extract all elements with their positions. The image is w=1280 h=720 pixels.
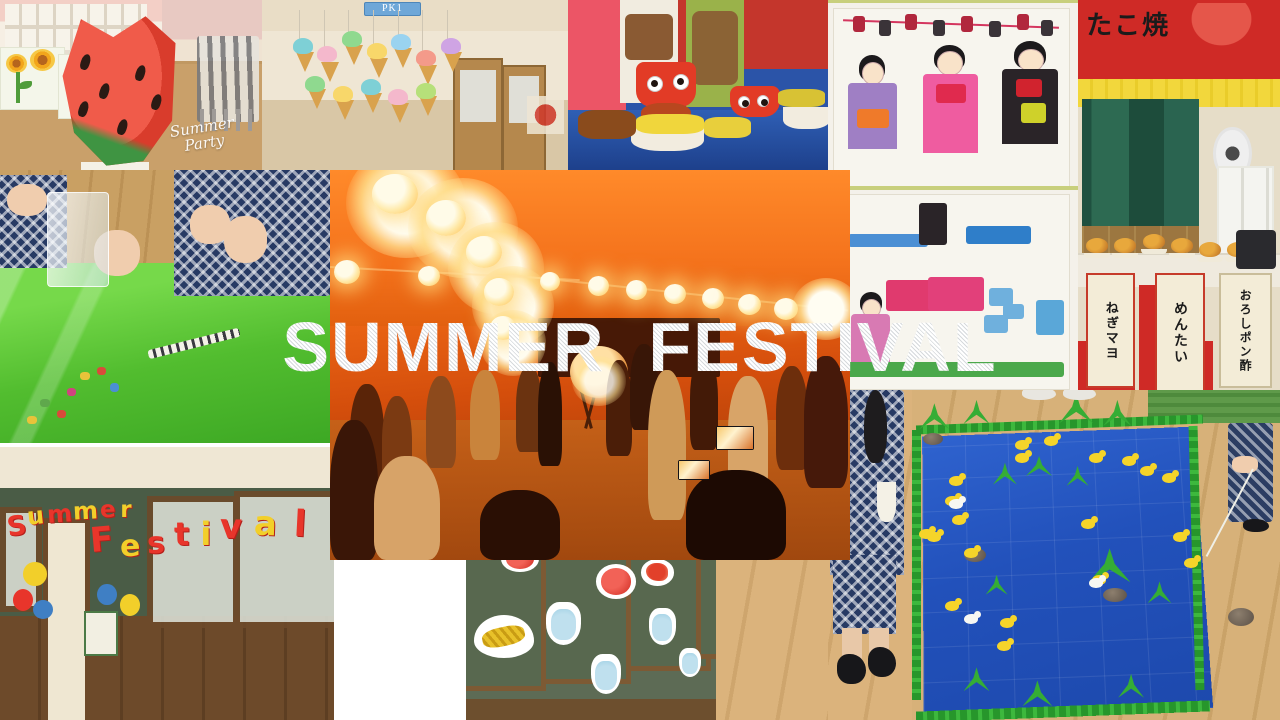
paper-scoop bbox=[305, 76, 325, 92]
takoyaki-tray bbox=[1141, 249, 1167, 254]
cutout-letter: s bbox=[146, 529, 165, 560]
paper-lantern bbox=[484, 278, 514, 306]
door-glass bbox=[460, 70, 495, 122]
child-shoe bbox=[1022, 390, 1055, 400]
sunflower-panel bbox=[0, 47, 65, 110]
red-panel bbox=[1139, 285, 1155, 396]
paper-scoop bbox=[416, 83, 436, 99]
paper-scoop bbox=[391, 34, 411, 50]
dancer bbox=[480, 490, 560, 560]
paper-decoration bbox=[97, 584, 117, 606]
octopus-eye bbox=[647, 76, 663, 92]
paper-duck bbox=[1140, 466, 1154, 476]
paper-duck bbox=[1089, 453, 1103, 463]
paper-scoop bbox=[416, 50, 436, 66]
paper-duck bbox=[1000, 618, 1014, 628]
paper-scoop bbox=[361, 79, 381, 95]
dancer bbox=[686, 470, 786, 560]
paper-lantern bbox=[372, 174, 418, 214]
dancer bbox=[648, 370, 686, 520]
goldfish-bag-cutout bbox=[649, 608, 677, 644]
paper-cone-craft bbox=[394, 48, 412, 68]
dancer bbox=[538, 362, 562, 466]
cutout-letter: S bbox=[5, 511, 28, 540]
paper-duck bbox=[1122, 456, 1136, 466]
paper-lantern bbox=[588, 276, 609, 296]
paper-cup bbox=[877, 482, 897, 522]
paper-takoyaki bbox=[1199, 242, 1221, 257]
wood-base bbox=[466, 699, 716, 720]
goldfish-cutout bbox=[641, 559, 674, 585]
black-pot bbox=[1236, 230, 1276, 270]
paper-duck bbox=[949, 476, 963, 486]
paper-corn-cutout bbox=[474, 615, 534, 658]
photo-duck-pond-game bbox=[912, 390, 1280, 720]
child-head bbox=[864, 390, 887, 463]
dancer bbox=[330, 420, 378, 560]
paper-lantern bbox=[426, 200, 466, 236]
sunflower-icon bbox=[6, 54, 27, 74]
paper-scoop bbox=[367, 43, 387, 59]
craft-sticker bbox=[80, 372, 90, 380]
menu-sign-negimayo: ねぎマヨ bbox=[1086, 273, 1134, 388]
photo-summer-festival-wall: S u m m e r F e s t i v a l bbox=[0, 447, 334, 720]
craft-sticker bbox=[67, 388, 76, 396]
smartphone-screen bbox=[716, 426, 754, 450]
cutout-letter: e bbox=[119, 531, 141, 562]
menu-sign-oroshiponzu: おろしポン酢 bbox=[1219, 273, 1271, 388]
sunflower-icon bbox=[30, 49, 55, 71]
craft-sticker bbox=[27, 416, 37, 424]
paper-takoyaki bbox=[1171, 238, 1193, 253]
shredded-paper bbox=[578, 110, 636, 139]
paper-duck bbox=[949, 499, 963, 509]
dancer bbox=[690, 354, 718, 450]
dancer bbox=[374, 456, 440, 560]
menu-sign-mentai: めんたい bbox=[1155, 273, 1205, 392]
dancer bbox=[470, 370, 500, 460]
paper-cone-craft bbox=[364, 93, 382, 113]
paper-lantern bbox=[334, 260, 360, 284]
paper-duck bbox=[997, 641, 1011, 651]
cutout-letter: l bbox=[293, 507, 307, 544]
pink-backdrop bbox=[568, 0, 626, 114]
paper-cone-craft bbox=[419, 96, 437, 116]
paper-lantern bbox=[664, 284, 686, 304]
paper-scoop bbox=[293, 38, 313, 54]
drawing-sheet-lower bbox=[833, 194, 1070, 390]
photo-paper-octopus-stall bbox=[568, 0, 830, 172]
paper-decoration bbox=[23, 562, 46, 587]
paper-cone-craft bbox=[345, 45, 363, 65]
paper-duck bbox=[1081, 519, 1095, 529]
takoyaki-tray bbox=[1197, 257, 1223, 262]
craft-sticker bbox=[57, 410, 66, 418]
paper-duck bbox=[1089, 578, 1103, 588]
paper-lantern bbox=[490, 316, 516, 340]
watermelon-rind bbox=[60, 16, 175, 165]
paper-duck bbox=[1015, 440, 1029, 450]
paper-scoop bbox=[441, 38, 461, 54]
stall-banner: たこ焼 bbox=[1078, 0, 1280, 79]
paper-duck bbox=[1162, 473, 1176, 483]
shredded-paper bbox=[778, 89, 825, 106]
drawn-figure bbox=[999, 41, 1065, 169]
paper-duck bbox=[1173, 532, 1187, 542]
paper-scoop bbox=[317, 46, 337, 62]
octopus-eye bbox=[673, 74, 689, 90]
paper-reed bbox=[964, 400, 990, 424]
cutout-letter: u bbox=[26, 504, 46, 530]
paper-duck bbox=[964, 548, 978, 558]
wall-poster bbox=[84, 611, 118, 656]
paper-cone-craft bbox=[444, 52, 462, 72]
photo-festival-food-cutouts bbox=[466, 556, 716, 720]
photo-hanging-cones-hallway: PK1 bbox=[262, 0, 570, 172]
leaf bbox=[19, 81, 33, 90]
paper-lantern bbox=[418, 266, 440, 286]
paper-cone-craft bbox=[391, 103, 409, 123]
drawing-sheet-upper bbox=[833, 8, 1070, 188]
photo-watermelon-room: Summer Party bbox=[0, 0, 262, 180]
paper-cone-craft bbox=[336, 100, 354, 120]
photo-takoyaki-stall: たこ焼 ねぎマヨ めんたい おろしポン酢 bbox=[1078, 0, 1280, 396]
drawn-figure bbox=[843, 55, 904, 173]
goldfish-bag-cutout bbox=[546, 602, 581, 645]
paper-candy-apple-cutout bbox=[596, 564, 636, 598]
collage-canvas: Summer Party PK1 bbox=[0, 0, 1280, 720]
dancer bbox=[804, 356, 848, 488]
child-shoe bbox=[837, 654, 866, 684]
drawn-figure bbox=[919, 45, 985, 177]
cutout-letter: v bbox=[220, 510, 243, 544]
paper-takoyaki bbox=[1143, 234, 1165, 249]
cutout-letter: t bbox=[173, 518, 189, 550]
child-yukata-shorts bbox=[833, 555, 896, 634]
paper-cone-craft bbox=[370, 58, 388, 78]
paper-grass-border bbox=[912, 430, 921, 701]
paper-takoyaki bbox=[1114, 238, 1136, 253]
takoyaki-tray bbox=[1169, 253, 1195, 258]
craft-sticker bbox=[40, 399, 50, 407]
photo-crayon-drawings bbox=[828, 0, 1078, 396]
shredded-paper bbox=[636, 114, 704, 135]
paper-rock bbox=[1228, 608, 1254, 626]
paper-duck bbox=[964, 614, 978, 624]
paper-scoop bbox=[333, 86, 353, 102]
goldfish-bag-cutout bbox=[591, 654, 621, 693]
watermelon-script-text: Summer Party bbox=[169, 115, 238, 156]
child-hand bbox=[224, 216, 267, 262]
photo-green-table-craft bbox=[0, 170, 334, 443]
stacked-chairs bbox=[197, 36, 260, 122]
child-arm bbox=[1232, 456, 1258, 473]
paper-lantern bbox=[540, 272, 560, 291]
takoyaki-tray bbox=[1084, 253, 1110, 258]
paper-lantern bbox=[738, 294, 761, 315]
plastic-bottle bbox=[47, 192, 109, 287]
paper-lantern bbox=[466, 236, 502, 268]
pond-tarp bbox=[922, 427, 1213, 719]
paper-lantern bbox=[702, 288, 724, 309]
paper-rock bbox=[923, 433, 943, 445]
cutout-letter: a bbox=[253, 507, 277, 542]
cutout-letter: r bbox=[120, 499, 131, 522]
smartphone-screen bbox=[678, 460, 710, 480]
interior-window bbox=[234, 491, 334, 629]
paper-duck bbox=[1015, 453, 1029, 463]
paper-scoop bbox=[388, 89, 408, 105]
paper-bowl bbox=[783, 107, 830, 129]
cutout-letter: m bbox=[46, 501, 73, 527]
child-shoe bbox=[868, 647, 897, 677]
cutout-letter: i bbox=[200, 518, 211, 550]
craft-sticker bbox=[97, 367, 106, 375]
banner-text: たこ焼 bbox=[1086, 5, 1170, 42]
upper-wall bbox=[0, 447, 334, 488]
paper-cone-craft bbox=[308, 89, 326, 109]
child-hand bbox=[7, 184, 47, 217]
dancer bbox=[426, 376, 456, 468]
wall-art-fish bbox=[527, 96, 564, 134]
paper-cone-craft bbox=[296, 52, 314, 72]
octopus-eye bbox=[757, 95, 769, 107]
child-shoe bbox=[1063, 390, 1096, 400]
shredded-paper bbox=[704, 117, 751, 138]
paper-duck bbox=[919, 529, 933, 539]
octopus-logo-icon bbox=[1175, 3, 1268, 60]
paper-takoyaki bbox=[1086, 238, 1108, 253]
hallway-door bbox=[453, 58, 503, 172]
craft-sticker bbox=[110, 383, 119, 392]
photo-bon-odori-hall bbox=[330, 170, 850, 560]
paper-scoop bbox=[342, 31, 362, 47]
takoyaki-tray bbox=[1112, 253, 1138, 258]
child-shoe bbox=[1243, 519, 1269, 532]
goldfish-bag-cutout bbox=[679, 648, 702, 678]
wall-panel bbox=[696, 556, 716, 659]
cutout-letter: F bbox=[89, 522, 115, 558]
paper-lantern bbox=[626, 280, 647, 300]
